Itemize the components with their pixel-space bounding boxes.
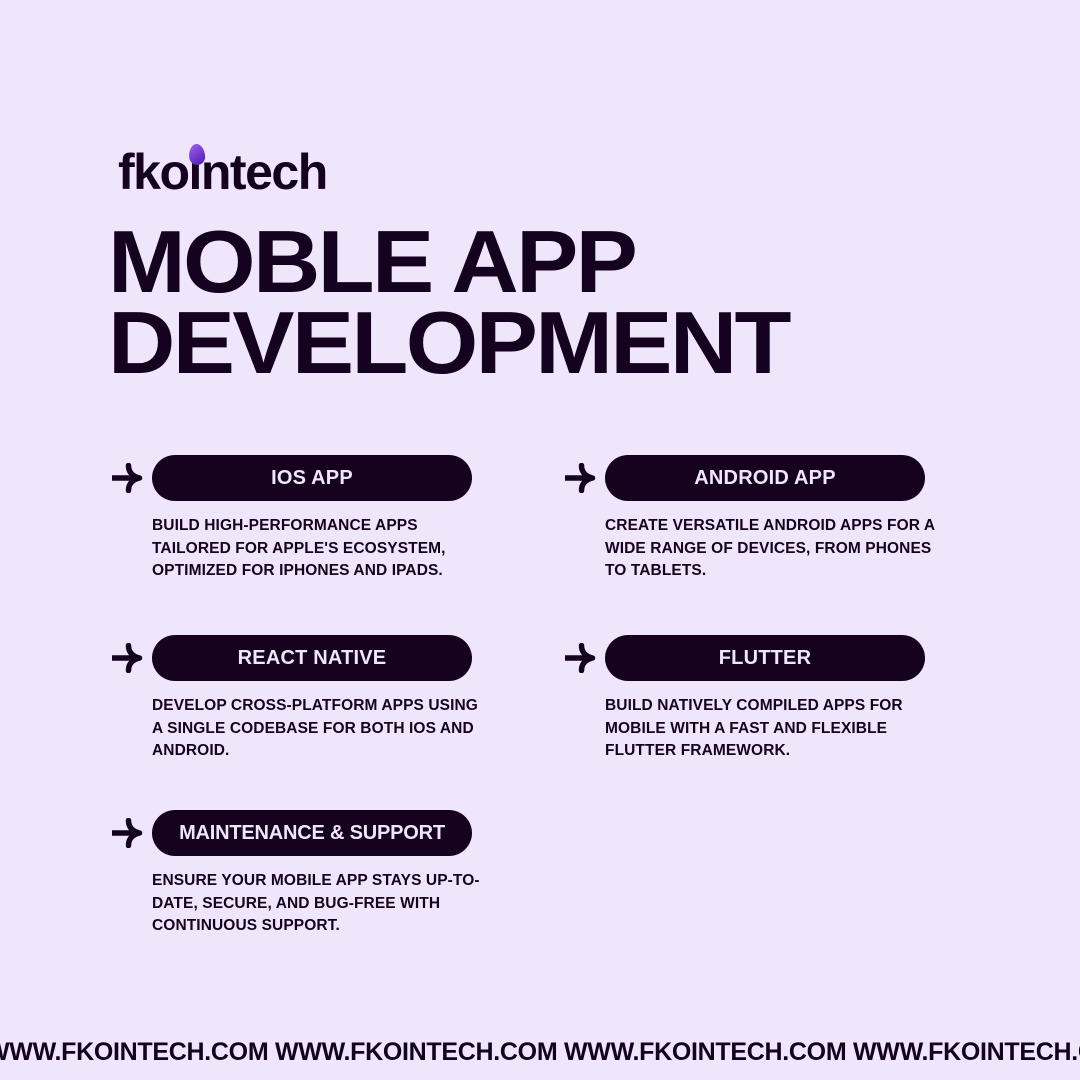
service-title-pill[interactable]: REACT NATIVE bbox=[152, 635, 472, 681]
service-card-header: MAINTENANCE & SUPPORT bbox=[104, 810, 574, 856]
service-title-pill[interactable]: MAINTENANCE & SUPPORT bbox=[152, 810, 472, 856]
service-card-header: REACT NATIVE bbox=[104, 635, 574, 681]
page-title: MOBLE APP DEVELOPMENT bbox=[108, 222, 789, 384]
service-description: DEVELOP CROSS-PLATFORM APPS USING A SING… bbox=[152, 695, 482, 763]
service-card-ios-app[interactable]: IOS APP BUILD HIGH-PERFORMANCE APPS TAIL… bbox=[104, 455, 574, 583]
service-description: ENSURE YOUR MOBILE APP STAYS UP-TO-DATE,… bbox=[152, 870, 482, 938]
arrow-right-icon bbox=[557, 635, 605, 681]
poster-canvas: fkointech MOBLE APP DEVELOPMENT IOS APP … bbox=[0, 0, 1080, 1080]
brand-logo-text: fkointech bbox=[118, 147, 327, 197]
arrow-right-icon bbox=[104, 455, 152, 501]
arrow-right-icon bbox=[104, 635, 152, 681]
service-title-pill[interactable]: ANDROID APP bbox=[605, 455, 925, 501]
service-description: BUILD NATIVELY COMPILED APPS FOR MOBILE … bbox=[605, 695, 935, 763]
footer-ticker: WWW.FKOINTECH.COM WWW.FKOINTECH.COM WWW.… bbox=[0, 1024, 1080, 1080]
arrow-right-icon bbox=[557, 455, 605, 501]
service-card-header: ANDROID APP bbox=[557, 455, 1027, 501]
service-card-flutter[interactable]: FLUTTER BUILD NATIVELY COMPILED APPS FOR… bbox=[557, 635, 1027, 763]
service-card-maintenance-support[interactable]: MAINTENANCE & SUPPORT ENSURE YOUR MOBILE… bbox=[104, 810, 574, 938]
brand-logo: fkointech bbox=[118, 143, 327, 197]
arrow-right-icon bbox=[104, 810, 152, 856]
footer-ticker-text: WWW.FKOINTECH.COM WWW.FKOINTECH.COM WWW.… bbox=[0, 1038, 1080, 1067]
service-card-react-native[interactable]: REACT NATIVE DEVELOP CROSS-PLATFORM APPS… bbox=[104, 635, 574, 763]
service-card-header: IOS APP bbox=[104, 455, 574, 501]
service-title-pill[interactable]: FLUTTER bbox=[605, 635, 925, 681]
service-description: BUILD HIGH-PERFORMANCE APPS TAILORED FOR… bbox=[152, 515, 482, 583]
service-description: CREATE VERSATILE ANDROID APPS FOR A WIDE… bbox=[605, 515, 935, 583]
service-card-android-app[interactable]: ANDROID APP CREATE VERSATILE ANDROID APP… bbox=[557, 455, 1027, 583]
service-title-pill[interactable]: IOS APP bbox=[152, 455, 472, 501]
service-card-header: FLUTTER bbox=[557, 635, 1027, 681]
